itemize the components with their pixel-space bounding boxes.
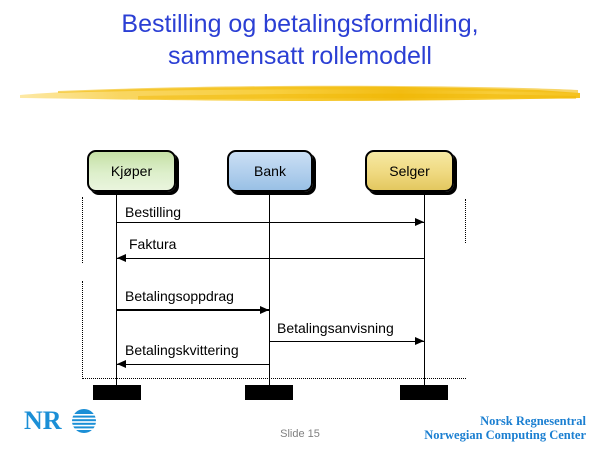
role-label-bank: Bank [254, 163, 286, 179]
lifeline-selger [424, 192, 425, 386]
role-box-kjoper[interactable]: Kjøper [87, 150, 176, 192]
terminator-bar-bank [245, 385, 293, 400]
arrow-head-faktura [117, 254, 126, 262]
arrow-head-betalingsanvisning [415, 337, 424, 345]
message-label-betalingskvittering: Betalingskvittering [124, 342, 240, 358]
message-line-betalingsanvisning [269, 341, 424, 342]
message-line-bestilling [116, 222, 424, 223]
boundary-left-upper [82, 197, 83, 263]
message-line-faktura [116, 258, 424, 259]
boundary-bottom [82, 378, 466, 379]
org-line-1: Norsk Regnesentral [424, 414, 586, 428]
message-label-betalingsoppdrag: Betalingsoppdrag [124, 288, 235, 304]
role-box-bank[interactable]: Bank [227, 150, 313, 192]
role-label-kjoper: Kjøper [111, 163, 152, 179]
role-label-selger: Selger [389, 163, 429, 179]
message-line-betalingskvittering [116, 364, 269, 365]
arrow-head-betalingsoppdrag [260, 306, 269, 314]
boundary-right-upper [465, 199, 466, 243]
message-line-betalingsoppdrag [116, 309, 269, 311]
message-label-faktura: Faktura [128, 236, 177, 252]
message-label-betalingsanvisning: Betalingsanvisning [276, 320, 395, 336]
arrow-head-betalingskvittering [117, 360, 126, 368]
arrow-head-bestilling [415, 218, 424, 226]
boundary-left-lower [82, 281, 83, 379]
org-line-2: Norwegian Computing Center [424, 428, 586, 442]
terminator-bar-selger [400, 385, 448, 400]
message-label-bestilling: Bestilling [124, 204, 182, 220]
terminator-bar-kjoper [93, 385, 141, 400]
role-box-selger[interactable]: Selger [365, 150, 454, 192]
organization-name: Norsk Regnesentral Norwegian Computing C… [424, 414, 586, 442]
sequence-diagram: Kjøper Bank Selger Bestilling Faktura Be… [0, 0, 600, 450]
